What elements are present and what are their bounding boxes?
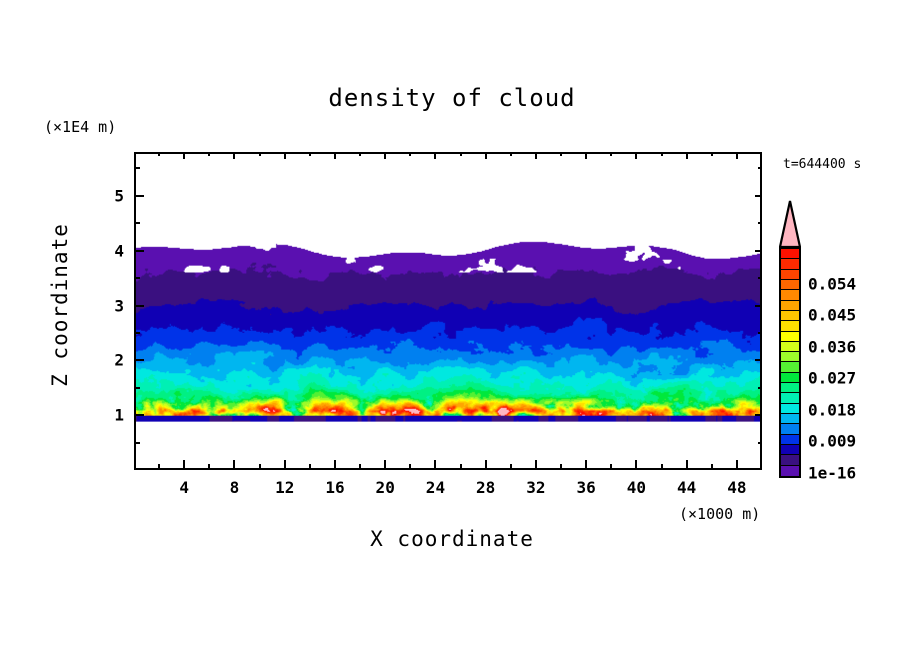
timestamp-annotation: t=644400 s: [783, 157, 861, 172]
x-tick-major: [334, 460, 336, 470]
y-tick-major-right: [755, 305, 762, 307]
y-tick-minor-right: [758, 387, 762, 389]
x-tick-label: 40: [627, 478, 646, 497]
colorbar-tick-label: 0.027: [808, 369, 856, 388]
colorbar-band: [781, 342, 799, 352]
colorbar-tick-label: 0.018: [808, 400, 856, 419]
y-tick-minor-right: [758, 222, 762, 224]
colorbar-band: [781, 435, 799, 445]
x-tick-major: [384, 460, 386, 470]
y-tick-minor: [134, 387, 140, 389]
x-tick-label: 12: [275, 478, 294, 497]
y-tick-label: 1: [86, 406, 124, 425]
y-tick-minor-right: [758, 167, 762, 169]
y-tick-minor-right: [758, 277, 762, 279]
colorbar-band: [781, 321, 799, 331]
x-tick-major-top: [736, 152, 738, 159]
y-tick-major-right: [755, 195, 762, 197]
x-tick-major: [233, 460, 235, 470]
colorbar-band: [781, 383, 799, 393]
x-tick-minor-top: [460, 152, 462, 156]
x-tick-major-top: [284, 152, 286, 159]
x-tick-minor-top: [409, 152, 411, 156]
colorbar-band: [781, 290, 799, 300]
x-tick-label: 44: [677, 478, 696, 497]
x-tick-minor-top: [610, 152, 612, 156]
chart-title: density of cloud: [0, 84, 904, 112]
y-tick-minor-right: [758, 332, 762, 334]
y-tick-major: [134, 359, 144, 361]
y-tick-label: 4: [86, 241, 124, 260]
y-tick-label: 2: [86, 351, 124, 370]
x-tick-major-top: [585, 152, 587, 159]
x-tick-label: 16: [325, 478, 344, 497]
x-tick-label: 32: [526, 478, 545, 497]
colorbar-tick-label: 1e-16: [808, 463, 856, 482]
colorbar-band: [781, 352, 799, 362]
density-field-canvas: [136, 154, 760, 468]
x-tick-label: 48: [727, 478, 746, 497]
x-axis-units: (×1000 m): [679, 505, 760, 523]
x-tick-major-top: [635, 152, 637, 159]
colorbar-tick-label: 0.009: [808, 432, 856, 451]
x-tick-major-top: [434, 152, 436, 159]
x-tick-major: [284, 460, 286, 470]
y-tick-label: 3: [86, 296, 124, 315]
x-tick-minor: [158, 464, 160, 470]
x-tick-major-top: [183, 152, 185, 159]
x-tick-minor-top: [309, 152, 311, 156]
x-tick-major: [635, 460, 637, 470]
y-tick-major: [134, 195, 144, 197]
x-tick-minor-top: [158, 152, 160, 156]
x-tick-major-top: [686, 152, 688, 159]
x-tick-major: [585, 460, 587, 470]
x-tick-major-top: [334, 152, 336, 159]
x-tick-label: 36: [577, 478, 596, 497]
x-tick-minor: [409, 464, 411, 470]
colorbar-tick-label: 0.054: [808, 274, 856, 293]
x-tick-minor-top: [510, 152, 512, 156]
x-tick-major: [686, 460, 688, 470]
x-tick-minor: [309, 464, 311, 470]
y-tick-major: [134, 414, 144, 416]
x-tick-major: [535, 460, 537, 470]
x-tick-major-top: [384, 152, 386, 159]
x-tick-minor-top: [711, 152, 713, 156]
x-tick-minor: [208, 464, 210, 470]
y-tick-major-right: [755, 414, 762, 416]
colorbar-band: [781, 393, 799, 403]
y-axis-label: Z coordinate: [48, 215, 72, 395]
y-tick-minor: [134, 442, 140, 444]
x-tick-minor-top: [359, 152, 361, 156]
x-tick-major: [485, 460, 487, 470]
colorbar-band: [781, 466, 799, 476]
colorbar-band: [781, 311, 799, 321]
y-axis-units: (×1E4 m): [44, 118, 116, 136]
y-tick-major: [134, 250, 144, 252]
contour-plot-area: [134, 152, 762, 470]
colorbar-band: [781, 404, 799, 414]
x-tick-minor-top: [259, 152, 261, 156]
figure-canvas: density of cloud (×1E4 m) (×1000 m) t=64…: [0, 0, 904, 654]
y-tick-major: [134, 305, 144, 307]
colorbar-extend-arrow: [779, 199, 801, 249]
x-tick-minor: [610, 464, 612, 470]
colorbar-band: [781, 362, 799, 372]
x-tick-major: [736, 460, 738, 470]
colorbar-band: [781, 455, 799, 465]
x-tick-major-top: [233, 152, 235, 159]
colorbar-arrow-svg: [779, 199, 801, 249]
colorbar-band: [781, 249, 799, 259]
y-tick-minor: [134, 332, 140, 334]
colorbar-band: [781, 414, 799, 424]
y-tick-label: 5: [86, 186, 124, 205]
x-tick-minor: [259, 464, 261, 470]
y-tick-major-right: [755, 250, 762, 252]
colorbar-band: [781, 280, 799, 290]
x-tick-major: [183, 460, 185, 470]
colorbar-band: [781, 424, 799, 434]
x-tick-label: 24: [426, 478, 445, 497]
x-tick-label: 20: [376, 478, 395, 497]
x-tick-label: 4: [179, 478, 189, 497]
colorbar-band: [781, 373, 799, 383]
colorbar-band: [781, 445, 799, 455]
y-tick-minor: [134, 277, 140, 279]
x-tick-minor: [460, 464, 462, 470]
x-tick-minor-top: [560, 152, 562, 156]
x-tick-minor-top: [208, 152, 210, 156]
colorbar-band: [781, 259, 799, 269]
colorbar: [779, 247, 801, 478]
x-tick-minor: [510, 464, 512, 470]
x-tick-major: [434, 460, 436, 470]
x-tick-label: 8: [230, 478, 240, 497]
x-axis-label: X coordinate: [0, 527, 904, 551]
x-tick-label: 28: [476, 478, 495, 497]
x-tick-minor: [711, 464, 713, 470]
y-tick-major-right: [755, 359, 762, 361]
colorbar-band: [781, 332, 799, 342]
x-tick-major-top: [535, 152, 537, 159]
x-tick-major-top: [485, 152, 487, 159]
x-tick-minor-top: [661, 152, 663, 156]
x-tick-minor: [661, 464, 663, 470]
x-tick-minor: [560, 464, 562, 470]
colorbar-band: [781, 270, 799, 280]
colorbar-band: [781, 301, 799, 311]
y-tick-minor: [134, 167, 140, 169]
x-tick-minor: [359, 464, 361, 470]
y-tick-minor: [134, 222, 140, 224]
colorbar-tick-label: 0.036: [808, 337, 856, 356]
colorbar-tick-label: 0.045: [808, 306, 856, 325]
y-tick-minor-right: [758, 442, 762, 444]
